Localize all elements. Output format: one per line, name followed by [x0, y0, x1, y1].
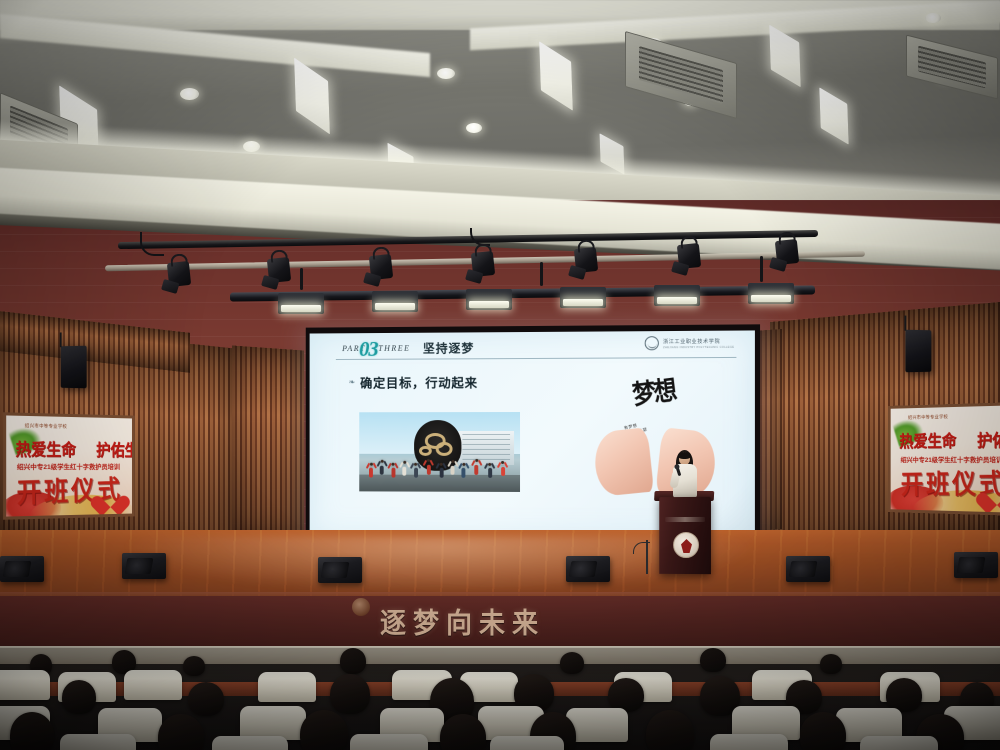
slide-part-word-right: THREE: [378, 344, 410, 353]
stage-medallion-icon: [352, 598, 370, 616]
par-stage-light: [278, 293, 324, 314]
audience-head: [62, 680, 96, 714]
photo-person: [414, 462, 418, 477]
truss-drop-rod: [540, 262, 543, 286]
audience-backrail: [0, 648, 1000, 664]
microphone-stand: [633, 540, 661, 576]
stage-monitor-speaker: [0, 556, 44, 582]
banner-headline-a: 热爱生命: [899, 431, 956, 451]
ceiling-downlight: [180, 88, 199, 100]
wall-speaker-left: [61, 346, 87, 389]
banner-headline-a: 热爱生命: [16, 439, 76, 459]
audience-head: [188, 682, 224, 716]
logo-name-cn: 浙江工业职业技术学院: [663, 337, 734, 345]
bullet-marker-icon: ❧: [349, 378, 356, 387]
seat: [350, 734, 428, 750]
stage-spotlight: [167, 261, 191, 287]
photo-person: [439, 462, 443, 477]
photo-person: [475, 459, 479, 474]
photo-building: [459, 431, 514, 465]
slide-section-title: 坚持逐梦: [423, 339, 474, 356]
audience-head: [183, 656, 205, 676]
stage-monitor-speaker: [786, 556, 830, 582]
photo-person: [369, 462, 373, 477]
par-stage-light: [466, 289, 512, 310]
photo-person: [403, 461, 407, 476]
stage-spotlight: [369, 254, 393, 280]
seat: [240, 706, 306, 740]
banner-school-name: 绍兴市中等专业学校: [25, 423, 67, 430]
photo-person: [501, 461, 505, 476]
audience-head: [300, 710, 348, 750]
ceiling-downlight: [925, 13, 941, 23]
seat: [124, 670, 182, 700]
stage-spotlight: [471, 251, 495, 277]
banner-left: 绍兴市中等专业学校 热爱生命 护佑生命 绍兴中专21级学生红十字救护员培训 开班…: [3, 412, 135, 519]
audience-head: [330, 674, 370, 714]
banner-right: 绍兴市中等专业学校 热爱生命 护佑生命 绍兴中专21级学生红十字救护员培训 开班…: [888, 402, 1000, 516]
slide-header: PART 03 THREE 坚持逐梦 浙江工业职业技术学院 ZHEJIANG I…: [310, 330, 755, 360]
photo-person: [462, 462, 466, 477]
truss-drop-rod: [760, 256, 763, 282]
auditorium-scene: 绍兴市中等专业学校 热爱生命 护佑生命 绍兴中专21级学生红十字救护员培训 开班…: [0, 0, 1000, 750]
university-logo-icon: [645, 336, 659, 350]
audience-head: [10, 712, 54, 750]
audience-head: [820, 654, 842, 674]
presenter-hair-front: [678, 452, 691, 459]
banner-school-name: 绍兴市中等专业学校: [908, 414, 948, 421]
stage-monitor-speaker: [566, 556, 610, 582]
stage-monitor-speaker: [318, 557, 362, 583]
school-crest-icon: [673, 532, 699, 558]
audience-head: [340, 648, 366, 674]
stage-spotlight: [677, 243, 701, 269]
seat: [490, 736, 564, 750]
audience-head: [608, 678, 644, 712]
par-stage-light: [560, 287, 606, 308]
audience-head: [646, 710, 694, 750]
banner-headline-b: 护佑生命: [96, 440, 135, 459]
banner-headline: 热爱生命 护佑生命: [899, 428, 1000, 452]
audience-head: [560, 652, 584, 674]
slide-bullet: ❧ 确定目标，行动起来: [349, 372, 478, 391]
stage-monitor-speaker: [122, 553, 166, 579]
heart-icon: [98, 488, 123, 511]
ceiling-downlight: [466, 123, 482, 133]
audience-head: [158, 714, 204, 750]
stage-spotlight: [775, 239, 799, 265]
par-stage-light: [372, 291, 418, 312]
seat: [212, 736, 288, 750]
slide-image-group-photo: [360, 412, 521, 493]
stage-monitor-speaker: [954, 552, 998, 578]
banner-headline-b: 护佑生命: [977, 430, 1000, 451]
photo-person: [488, 462, 492, 477]
seat: [258, 672, 316, 702]
audience-head: [800, 712, 846, 750]
slide-bullet-text: 确定目标，行动起来: [360, 372, 478, 391]
audience-area: [0, 648, 1000, 750]
wall-speaker-right: [905, 330, 931, 373]
stage-spotlight: [267, 257, 291, 283]
heart-icon: [984, 484, 1000, 508]
photo-person: [451, 460, 455, 475]
seat: [0, 670, 50, 700]
seat: [860, 736, 938, 750]
stage-slogan: 逐梦向未来: [380, 602, 545, 641]
seat: [710, 734, 788, 750]
slide-logo: 浙江工业职业技术学院 ZHEJIANG INDUSTRY POLYTECHNIC…: [645, 336, 734, 351]
stage-spotlight: [574, 247, 598, 273]
logo-name-en: ZHEJIANG INDUSTRY POLYTECHNIC COLLEGE: [663, 345, 734, 348]
par-stage-light: [654, 285, 700, 306]
seat: [60, 734, 136, 750]
audience-head: [700, 648, 726, 672]
truss-drop-rod: [300, 268, 303, 290]
slide-header-divider: [336, 357, 737, 360]
wood-slat-panel-center-left: [232, 345, 304, 540]
audience-head: [886, 678, 922, 712]
podium-nameplate: [665, 517, 705, 522]
photo-person: [391, 462, 395, 477]
par-stage-light: [748, 283, 794, 304]
photo-person: [380, 460, 384, 475]
banner-headline: 热爱生命 护佑生命: [16, 437, 128, 461]
photo-person: [427, 459, 431, 474]
ceiling-downlight: [437, 68, 455, 79]
hand-left: [592, 427, 654, 496]
podium: [659, 497, 711, 574]
